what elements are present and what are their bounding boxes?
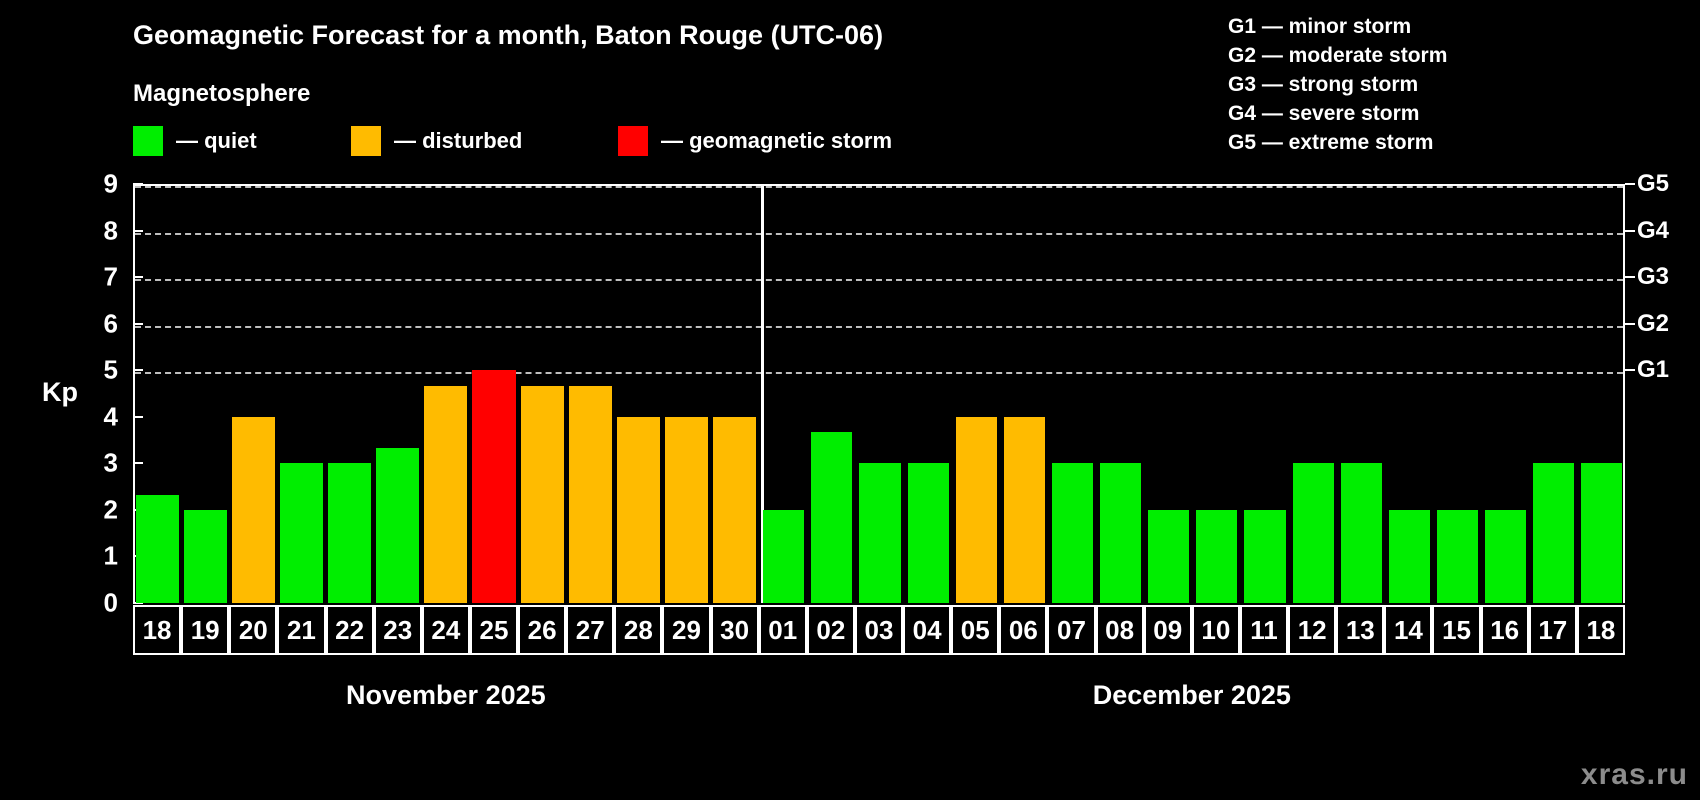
day-label-26: 26 — [518, 605, 566, 655]
storm-scale-legend: G1 — minor storm G2 — moderate storm G3 … — [1228, 12, 1447, 157]
y-tick-label-4: 4 — [78, 401, 118, 432]
bar-03[interactable] — [859, 463, 900, 603]
bar-11[interactable] — [1244, 510, 1285, 603]
y-tick-label-9: 9 — [78, 169, 118, 200]
legend-item-storm: — geomagnetic storm — [618, 126, 892, 156]
bar-19[interactable] — [184, 510, 227, 603]
bar-26[interactable] — [521, 386, 564, 603]
day-label-19: 19 — [181, 605, 229, 655]
day-label-05: 05 — [951, 605, 999, 655]
bar-21[interactable] — [280, 463, 323, 603]
bar-08[interactable] — [1100, 463, 1141, 603]
bar-17[interactable] — [1533, 463, 1574, 603]
day-label-25: 25 — [470, 605, 518, 655]
y-axis-title: Kp — [42, 377, 78, 408]
day-label-04: 04 — [903, 605, 951, 655]
bar-06[interactable] — [1004, 417, 1045, 603]
day-label-30: 30 — [711, 605, 759, 655]
day-label-17: 17 — [1529, 605, 1577, 655]
legend-item-quiet: — quiet — [133, 126, 257, 156]
legend-label-storm: — geomagnetic storm — [661, 128, 892, 154]
legend-label-disturbed: — disturbed — [394, 128, 522, 154]
y-axis-tick-labels: 0123456789 — [78, 0, 118, 800]
storm-scale-row-g5: G5 — extreme storm — [1228, 128, 1447, 157]
bar-30[interactable] — [713, 417, 756, 603]
g-tick-mark-g2 — [1625, 323, 1635, 325]
storm-scale-row-g2: G2 — moderate storm — [1228, 41, 1447, 70]
bar-23[interactable] — [376, 448, 419, 603]
bar-18[interactable] — [1581, 463, 1622, 603]
day-label-21: 21 — [277, 605, 325, 655]
legend-label-quiet: — quiet — [176, 128, 257, 154]
magnetosphere-subtitle: Magnetosphere — [133, 80, 310, 108]
day-label-18: 18 — [133, 605, 181, 655]
bar-22[interactable] — [328, 463, 371, 603]
bar-27[interactable] — [569, 386, 612, 603]
geomagnetic-forecast-chart: Geomagnetic Forecast for a month, Baton … — [0, 0, 1700, 800]
day-label-14: 14 — [1384, 605, 1432, 655]
bar-15[interactable] — [1437, 510, 1478, 603]
bar-28[interactable] — [617, 417, 660, 603]
legend-item-disturbed: — disturbed — [351, 126, 522, 156]
day-label-24: 24 — [422, 605, 470, 655]
day-label-strip: 1819202122232425262728293001020304050607… — [133, 605, 1625, 655]
y-tick-label-8: 8 — [78, 215, 118, 246]
g-tick-label-g5: G5 — [1637, 170, 1669, 198]
bar-07[interactable] — [1052, 463, 1093, 603]
bar-01[interactable] — [763, 510, 804, 603]
watermark: xras.ru — [1581, 758, 1688, 792]
day-label-28: 28 — [614, 605, 662, 655]
bar-02[interactable] — [811, 432, 852, 603]
g-tick-label-g1: G1 — [1637, 356, 1669, 384]
storm-scale-row-g1: G1 — minor storm — [1228, 12, 1447, 41]
day-label-20: 20 — [229, 605, 277, 655]
day-label-27: 27 — [566, 605, 614, 655]
g-tick-mark-g4 — [1625, 230, 1635, 232]
g-tick-mark-g1 — [1625, 369, 1635, 371]
bar-29[interactable] — [665, 417, 708, 603]
day-label-23: 23 — [374, 605, 422, 655]
day-label-29: 29 — [662, 605, 710, 655]
bar-24[interactable] — [424, 386, 467, 603]
legend-swatch-storm-icon — [618, 126, 648, 156]
bar-12[interactable] — [1293, 463, 1334, 603]
bar-18[interactable] — [136, 495, 179, 603]
day-label-09: 09 — [1144, 605, 1192, 655]
y-tick-label-2: 2 — [78, 494, 118, 525]
day-label-13: 13 — [1336, 605, 1384, 655]
g-tick-label-g3: G3 — [1637, 263, 1669, 291]
day-label-22: 22 — [326, 605, 374, 655]
y-tick-label-5: 5 — [78, 355, 118, 386]
g-tick-label-g4: G4 — [1637, 217, 1669, 245]
day-label-15: 15 — [1432, 605, 1480, 655]
day-label-10: 10 — [1192, 605, 1240, 655]
y-tick-label-3: 3 — [78, 448, 118, 479]
month-label-december: December 2025 — [1093, 680, 1291, 711]
y-tick-label-7: 7 — [78, 262, 118, 293]
bar-20[interactable] — [232, 417, 275, 603]
bar-09[interactable] — [1148, 510, 1189, 603]
storm-scale-row-g3: G3 — strong storm — [1228, 70, 1447, 99]
y-tick-label-1: 1 — [78, 541, 118, 572]
day-label-01: 01 — [759, 605, 807, 655]
bar-16[interactable] — [1485, 510, 1526, 603]
day-label-07: 07 — [1047, 605, 1095, 655]
bar-14[interactable] — [1389, 510, 1430, 603]
y-tick-label-0: 0 — [78, 588, 118, 619]
day-label-18: 18 — [1577, 605, 1625, 655]
page-title: Geomagnetic Forecast for a month, Baton … — [133, 20, 883, 51]
day-label-11: 11 — [1240, 605, 1288, 655]
g-tick-mark-g3 — [1625, 276, 1635, 278]
legend-swatch-disturbed-icon — [351, 126, 381, 156]
g-scale-axis-labels: G1G2G3G4G5 — [1637, 0, 1697, 800]
day-label-06: 06 — [999, 605, 1047, 655]
bar-10[interactable] — [1196, 510, 1237, 603]
day-label-02: 02 — [807, 605, 855, 655]
bar-04[interactable] — [908, 463, 949, 603]
g-tick-label-g2: G2 — [1637, 310, 1669, 338]
day-label-16: 16 — [1481, 605, 1529, 655]
bar-05[interactable] — [956, 417, 997, 603]
bar-series — [133, 184, 1625, 603]
day-label-12: 12 — [1288, 605, 1336, 655]
month-label-november: November 2025 — [346, 680, 546, 711]
y-tick-label-6: 6 — [78, 308, 118, 339]
day-label-03: 03 — [855, 605, 903, 655]
g-tick-mark-g5 — [1625, 183, 1635, 185]
bar-25[interactable] — [472, 370, 515, 603]
bar-13[interactable] — [1341, 463, 1382, 603]
day-label-08: 08 — [1096, 605, 1144, 655]
storm-scale-row-g4: G4 — severe storm — [1228, 99, 1447, 128]
legend-swatch-quiet-icon — [133, 126, 163, 156]
